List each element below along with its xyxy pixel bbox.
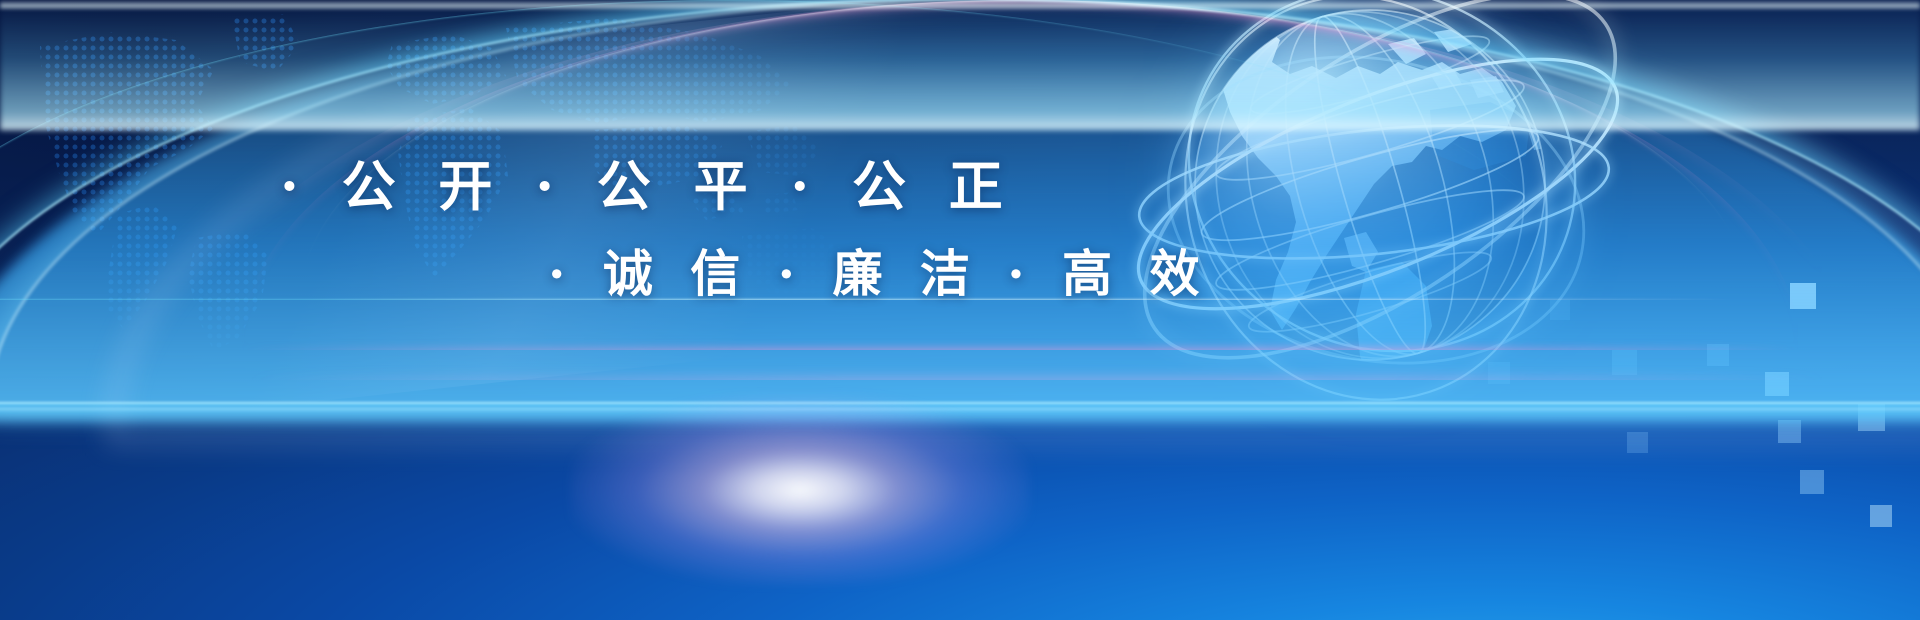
decorative-square: [1778, 420, 1801, 443]
slogan-line-1: · 公 开 · 公 平 · 公 正: [280, 142, 1015, 221]
decorative-square: [1858, 404, 1885, 431]
decorative-square: [1627, 432, 1648, 453]
decorative-square: [1765, 372, 1789, 396]
decorative-square: [1707, 344, 1729, 366]
globe-orbit-rings: [1130, 0, 1650, 400]
decorative-square: [1800, 470, 1824, 494]
promotional-banner: · 公 开 · 公 平 · 公 正 · 诚 信 · 廉 洁 · 高 效: [0, 0, 1920, 620]
decorative-square: [1790, 283, 1816, 309]
slogan-block: · 公 开 · 公 平 · 公 正 · 诚 信 · 廉 洁 · 高 效: [0, 0, 1130, 620]
globe-graphic: [1130, 0, 1650, 400]
slogan-line-2: · 诚 信 · 廉 洁 · 高 效: [548, 234, 1209, 306]
decorative-square: [1870, 505, 1892, 527]
